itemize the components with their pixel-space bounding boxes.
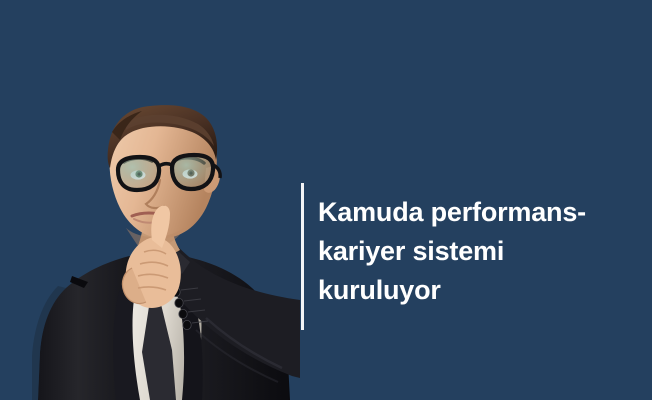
man-thinking-illustration (0, 0, 300, 400)
subject-photo (0, 0, 300, 400)
news-banner: Kamuda performans- kariyer sistemi kurul… (0, 0, 652, 400)
glasses-lens-left (118, 157, 159, 190)
glasses-lens-right (172, 155, 213, 189)
headline: Kamuda performans- kariyer sistemi kurul… (318, 193, 638, 310)
headline-line-2: kariyer sistemi (318, 232, 638, 271)
headline-line-1: Kamuda performans- (318, 193, 638, 232)
vertical-divider (301, 183, 304, 330)
headline-line-3: kuruluyor (318, 271, 638, 310)
